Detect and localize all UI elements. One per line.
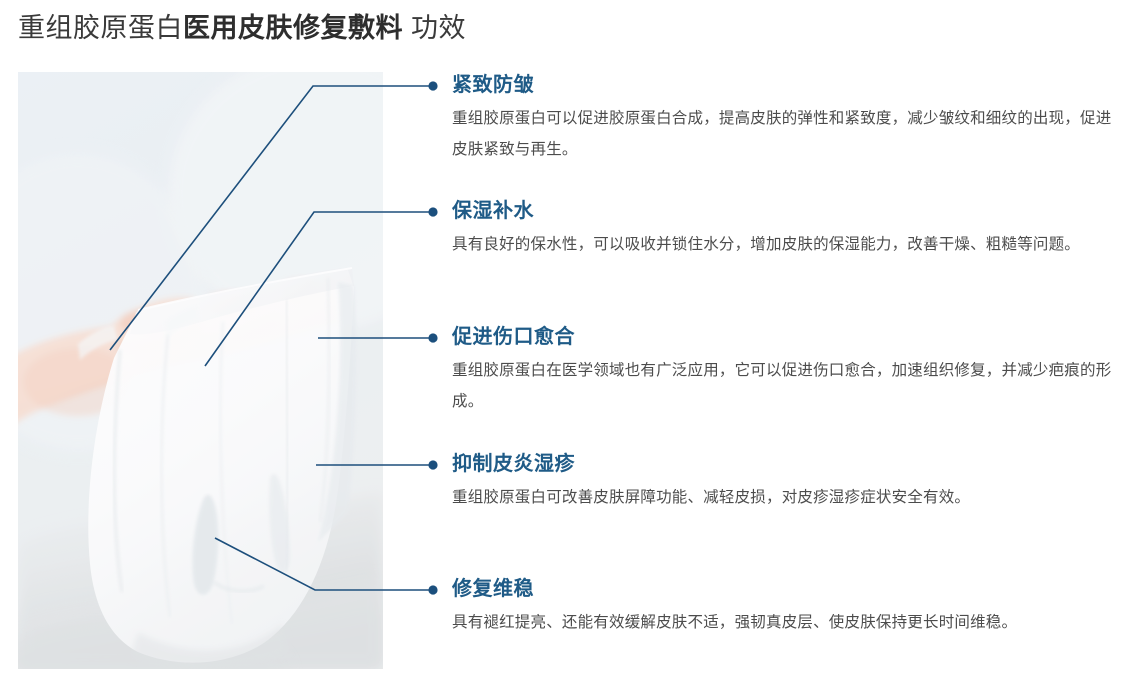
- feature-heading: 抑制皮炎湿疹: [452, 451, 1124, 477]
- feature-item: 抑制皮炎湿疹 重组胶原蛋白可改善皮肤屏障功能、减轻皮损，对皮疹湿疹症状安全有效。: [452, 451, 1124, 513]
- feature-body: 具有褪红提亮、还能有效缓解皮肤不适，强韧真皮层、使皮肤保持更长时间维稳。: [452, 607, 1124, 638]
- feature-heading: 促进伤口愈合: [452, 324, 1124, 350]
- connector-dot-5: [428, 585, 437, 594]
- feature-body: 重组胶原蛋白可改善皮肤屏障功能、减轻皮损，对皮疹湿疹症状安全有效。: [452, 482, 1124, 513]
- photo-illustration: [18, 72, 383, 669]
- page-title-tail: 功效: [403, 13, 466, 43]
- feature-item: 紧致防皱 重组胶原蛋白可以促进胶原蛋白合成，提高皮肤的弹性和紧致度，减少皱纹和细…: [452, 72, 1124, 165]
- feature-item: 促进伤口愈合 重组胶原蛋白在医学领域也有广泛应用，它可以促进伤口愈合，加速组织修…: [452, 324, 1124, 417]
- feature-item: 保湿补水 具有良好的保水性，可以吸收并锁住水分，增加皮肤的保湿能力，改善干燥、粗…: [452, 198, 1124, 260]
- connector-dot-4: [428, 460, 437, 469]
- feature-heading: 修复维稳: [452, 576, 1124, 602]
- connector-dot-3: [428, 333, 437, 342]
- feature-body: 重组胶原蛋白在医学领域也有广泛应用，它可以促进伤口愈合，加速组织修复，并减少疤痕…: [452, 355, 1124, 417]
- connector-dot-1: [428, 81, 437, 90]
- connector-dot-2: [428, 207, 437, 216]
- product-photo: [18, 72, 383, 669]
- page-title-lead: 重组胶原蛋白: [18, 13, 183, 43]
- feature-heading: 保湿补水: [452, 198, 1124, 224]
- feature-item: 修复维稳 具有褪红提亮、还能有效缓解皮肤不适，强韧真皮层、使皮肤保持更长时间维稳…: [452, 576, 1124, 638]
- page-title: 重组胶原蛋白医用皮肤修复敷料 功效: [18, 10, 466, 46]
- feature-body: 具有良好的保水性，可以吸收并锁住水分，增加皮肤的保湿能力，改善干燥、粗糙等问题。: [452, 229, 1124, 260]
- feature-body: 重组胶原蛋白可以促进胶原蛋白合成，提高皮肤的弹性和紧致度，减少皱纹和细纹的出现，…: [452, 103, 1124, 165]
- page-title-emphasis: 医用皮肤修复敷料: [183, 13, 403, 43]
- feature-heading: 紧致防皱: [452, 72, 1124, 98]
